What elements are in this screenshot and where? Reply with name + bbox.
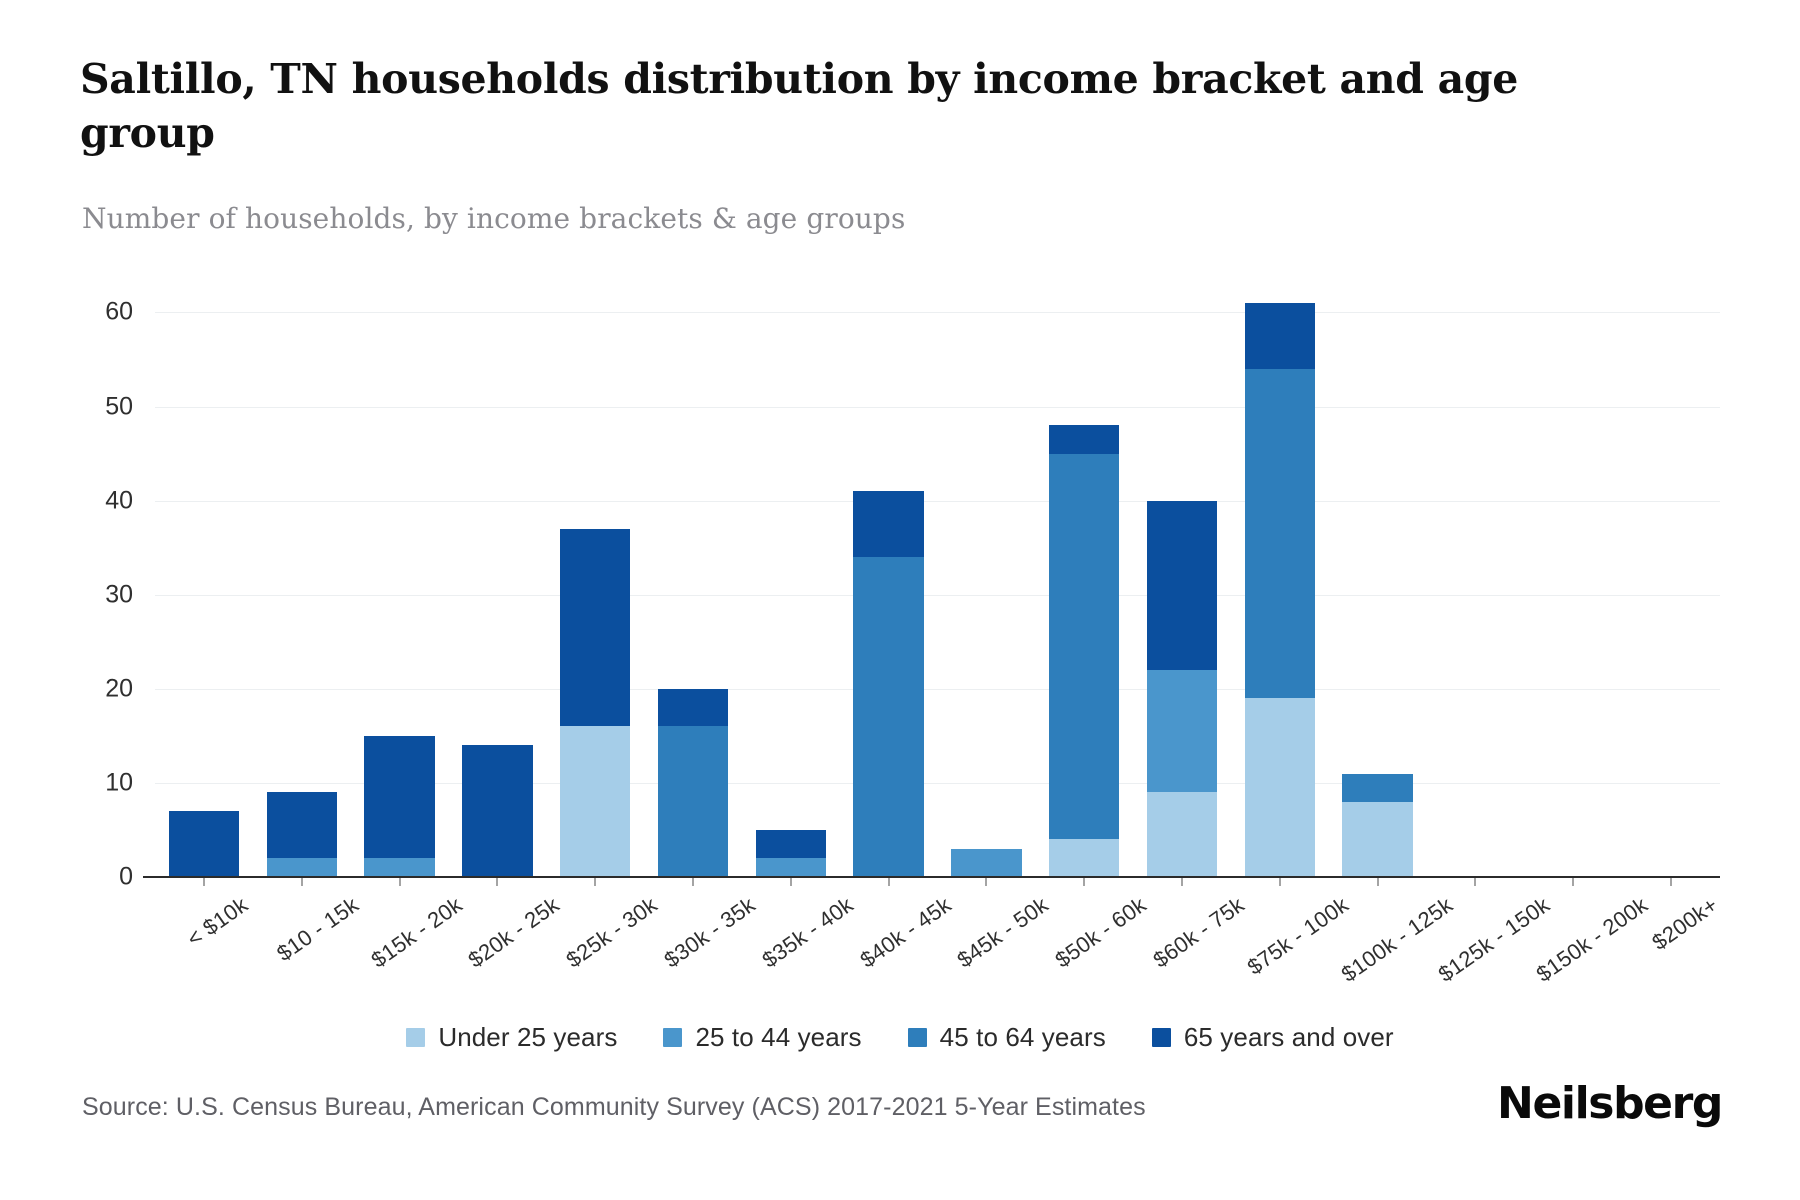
x-axis-tick: [986, 877, 987, 886]
x-label-slot: $200k+: [1622, 886, 1720, 1006]
bar-stack[interactable]: [560, 529, 630, 877]
x-axis-tick: [1084, 877, 1085, 886]
bar-segment[interactable]: [462, 745, 532, 877]
bar-segment[interactable]: [364, 736, 434, 858]
bar-segment[interactable]: [267, 792, 337, 858]
bar-segment[interactable]: [658, 726, 728, 877]
chart-page: Saltillo, TN households distribution by …: [0, 0, 1800, 1200]
x-label-slot: < $10k: [155, 886, 253, 1006]
bar-stack[interactable]: [1342, 774, 1412, 877]
x-axis-tick: [1182, 877, 1183, 886]
y-axis-tick-label: 50: [63, 392, 133, 421]
bar-segment[interactable]: [267, 858, 337, 877]
bar-segment[interactable]: [1245, 303, 1315, 369]
bar-group[interactable]: [448, 303, 546, 877]
x-axis-tick: [497, 877, 498, 886]
bar-segment[interactable]: [853, 491, 923, 557]
bar-group[interactable]: [742, 303, 840, 877]
source-note: Source: U.S. Census Bureau, American Com…: [82, 1093, 1146, 1122]
bar-segment[interactable]: [1342, 802, 1412, 877]
bar-group[interactable]: [938, 303, 1036, 877]
bar-segment[interactable]: [560, 726, 630, 877]
x-label-slot: $125k - 150k: [1427, 886, 1525, 1006]
legend-swatch-icon: [908, 1028, 927, 1047]
x-label-slot: $30k - 35k: [644, 886, 742, 1006]
y-axis-tick-label: 30: [63, 580, 133, 609]
y-axis-tick-label: 0: [63, 863, 133, 892]
bar-segment[interactable]: [1049, 454, 1119, 840]
bar-segment[interactable]: [1245, 369, 1315, 698]
x-label-slot: $45k - 50k: [938, 886, 1036, 1006]
bar-segment[interactable]: [658, 689, 728, 727]
y-axis-tick-label: 60: [63, 298, 133, 327]
x-axis-tick: [1377, 877, 1378, 886]
y-axis-tick-label: 10: [63, 768, 133, 797]
bar-segment[interactable]: [1147, 792, 1217, 877]
bar-stack[interactable]: [267, 792, 337, 877]
legend-swatch-icon: [663, 1028, 682, 1047]
legend-item[interactable]: 25 to 44 years: [663, 1022, 861, 1053]
bar-stack[interactable]: [462, 745, 532, 877]
bar-group[interactable]: [546, 303, 644, 877]
x-label-slot: $100k - 125k: [1329, 886, 1427, 1006]
legend-label: 65 years and over: [1184, 1022, 1394, 1053]
bar-group[interactable]: [253, 303, 351, 877]
x-label-slot: $25k - 30k: [546, 886, 644, 1006]
x-axis-tick: [790, 877, 791, 886]
x-axis-tick: [888, 877, 889, 886]
bar-segment[interactable]: [756, 858, 826, 877]
legend-item[interactable]: 45 to 64 years: [908, 1022, 1106, 1053]
bar-segment[interactable]: [951, 849, 1021, 877]
x-label-slot: $60k - 75k: [1133, 886, 1231, 1006]
x-label-slot: $20k - 25k: [448, 886, 546, 1006]
legend-label: 45 to 64 years: [940, 1022, 1106, 1053]
bar-segment[interactable]: [169, 811, 239, 877]
bar-segment[interactable]: [853, 557, 923, 877]
legend-item[interactable]: 65 years and over: [1152, 1022, 1394, 1053]
x-axis-tick-labels: < $10k$10 - 15k$15k - 20k$20k - 25k$25k …: [155, 886, 1720, 1006]
bar-stack[interactable]: [1049, 425, 1119, 877]
x-axis-tick: [1573, 877, 1574, 886]
bar-stack[interactable]: [853, 491, 923, 877]
x-axis-tick-label: < $10k: [182, 892, 253, 952]
chart-subtitle: Number of households, by income brackets…: [82, 202, 905, 235]
y-axis-tick-label: 40: [63, 486, 133, 515]
bar-stack[interactable]: [756, 830, 826, 877]
legend-label: Under 25 years: [438, 1022, 617, 1053]
x-label-slot: $75k - 100k: [1231, 886, 1329, 1006]
page-title: Saltillo, TN households distribution by …: [80, 52, 1600, 160]
bar-group[interactable]: [840, 303, 938, 877]
plot-area: [155, 303, 1720, 877]
bar-stack[interactable]: [1245, 303, 1315, 877]
x-axis-tick: [1279, 877, 1280, 886]
x-axis-tick: [203, 877, 204, 886]
bar-group[interactable]: [1622, 303, 1720, 877]
bar-stack[interactable]: [1147, 501, 1217, 877]
bar-segment[interactable]: [560, 529, 630, 727]
x-label-slot: $150k - 200k: [1524, 886, 1622, 1006]
bar-segment[interactable]: [1245, 698, 1315, 877]
bar-group[interactable]: [1329, 303, 1427, 877]
bar-stack[interactable]: [658, 689, 728, 877]
x-axis-line: [143, 876, 1720, 878]
x-label-slot: $50k - 60k: [1035, 886, 1133, 1006]
bar-segment[interactable]: [1342, 774, 1412, 802]
bar-segment[interactable]: [1049, 839, 1119, 877]
bar-group[interactable]: [1133, 303, 1231, 877]
x-axis-tick: [1475, 877, 1476, 886]
bar-series-container: [155, 303, 1720, 877]
bar-segment[interactable]: [364, 858, 434, 877]
x-label-slot: $35k - 40k: [742, 886, 840, 1006]
x-axis-tick: [399, 877, 400, 886]
x-axis-tick: [595, 877, 596, 886]
bar-group[interactable]: [1427, 303, 1525, 877]
bar-group[interactable]: [1524, 303, 1622, 877]
x-axis-tick: [301, 877, 302, 886]
x-axis-tick: [692, 877, 693, 886]
legend-item[interactable]: Under 25 years: [406, 1022, 617, 1053]
bar-group[interactable]: [644, 303, 742, 877]
bar-stack[interactable]: [951, 849, 1021, 877]
x-axis-tick-label: $200k+: [1647, 892, 1723, 956]
x-label-slot: $40k - 45k: [840, 886, 938, 1006]
bar-segment[interactable]: [1049, 425, 1119, 453]
bar-stack[interactable]: [364, 736, 434, 877]
y-axis-tick-label: 20: [63, 674, 133, 703]
chart-legend: Under 25 years25 to 44 years45 to 64 yea…: [0, 1022, 1800, 1053]
legend-swatch-icon: [406, 1028, 425, 1047]
bar-group[interactable]: [351, 303, 449, 877]
bar-segment[interactable]: [1147, 670, 1217, 792]
x-label-slot: $10 - 15k: [253, 886, 351, 1006]
brand-logo: Neilsberg: [1497, 1078, 1722, 1129]
legend-swatch-icon: [1152, 1028, 1171, 1047]
bar-group[interactable]: [1231, 303, 1329, 877]
bar-stack[interactable]: [169, 811, 239, 877]
bar-group[interactable]: [1035, 303, 1133, 877]
bar-segment[interactable]: [756, 830, 826, 858]
bar-segment[interactable]: [1147, 501, 1217, 670]
x-axis-tick: [1671, 877, 1672, 886]
x-label-slot: $15k - 20k: [351, 886, 449, 1006]
bar-group[interactable]: [155, 303, 253, 877]
legend-label: 25 to 44 years: [695, 1022, 861, 1053]
